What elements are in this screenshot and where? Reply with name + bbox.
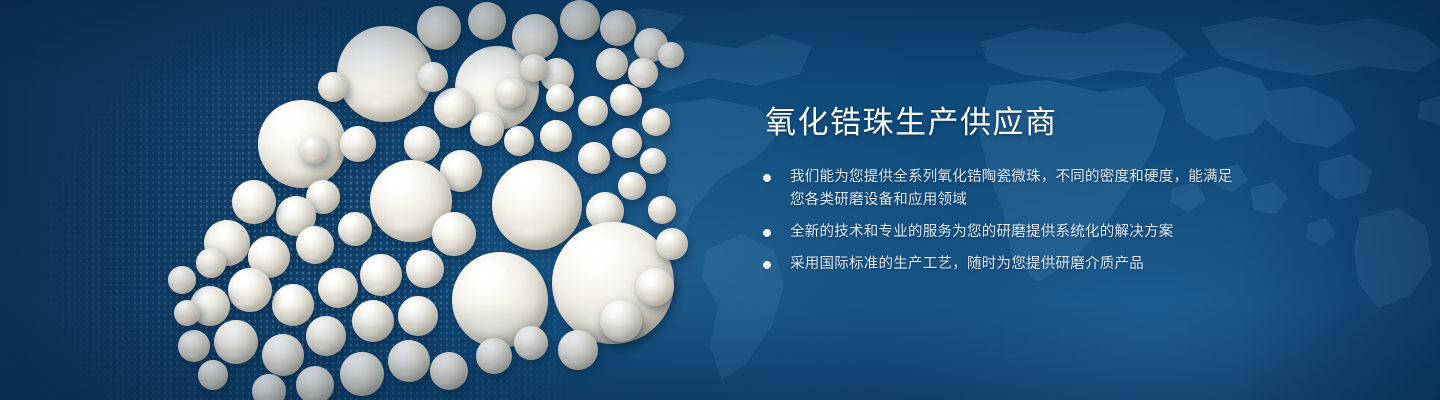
- list-item-label: 采用国际标准的生产工艺，随时为您提供研磨介质产品: [790, 253, 1233, 276]
- list-item-label: 我们能为您提供全系列氧化锆陶瓷微珠，不同的密度和硬度，能满足您各类研磨设备和应用…: [790, 166, 1233, 212]
- list-item: 我们能为您提供全系列氧化锆陶瓷微珠，不同的密度和硬度，能满足您各类研磨设备和应用…: [763, 166, 1233, 212]
- bullet-dot-icon: [763, 229, 771, 237]
- list-item: 全新的技术和专业的服务为您的研磨提供系统化的解决方案: [763, 221, 1233, 244]
- list-item: 采用国际标准的生产工艺，随时为您提供研磨介质产品: [763, 253, 1233, 276]
- banner-content: 氧化锆珠生产供应商 我们能为您提供全系列氧化锆陶瓷微珠，不同的密度和硬度，能满足…: [763, 104, 1233, 276]
- bullet-dot-icon: [763, 261, 771, 269]
- bullet-dot-icon: [763, 174, 771, 182]
- banner-headline: 氧化锆珠生产供应商: [765, 104, 1233, 142]
- banner-feature-list: 我们能为您提供全系列氧化锆陶瓷微珠，不同的密度和硬度，能满足您各类研磨设备和应用…: [763, 166, 1233, 276]
- list-item-label: 全新的技术和专业的服务为您的研磨提供系统化的解决方案: [790, 221, 1233, 244]
- hero-banner: 氧化锆珠生产供应商 我们能为您提供全系列氧化锆陶瓷微珠，不同的密度和硬度，能满足…: [0, 0, 1440, 400]
